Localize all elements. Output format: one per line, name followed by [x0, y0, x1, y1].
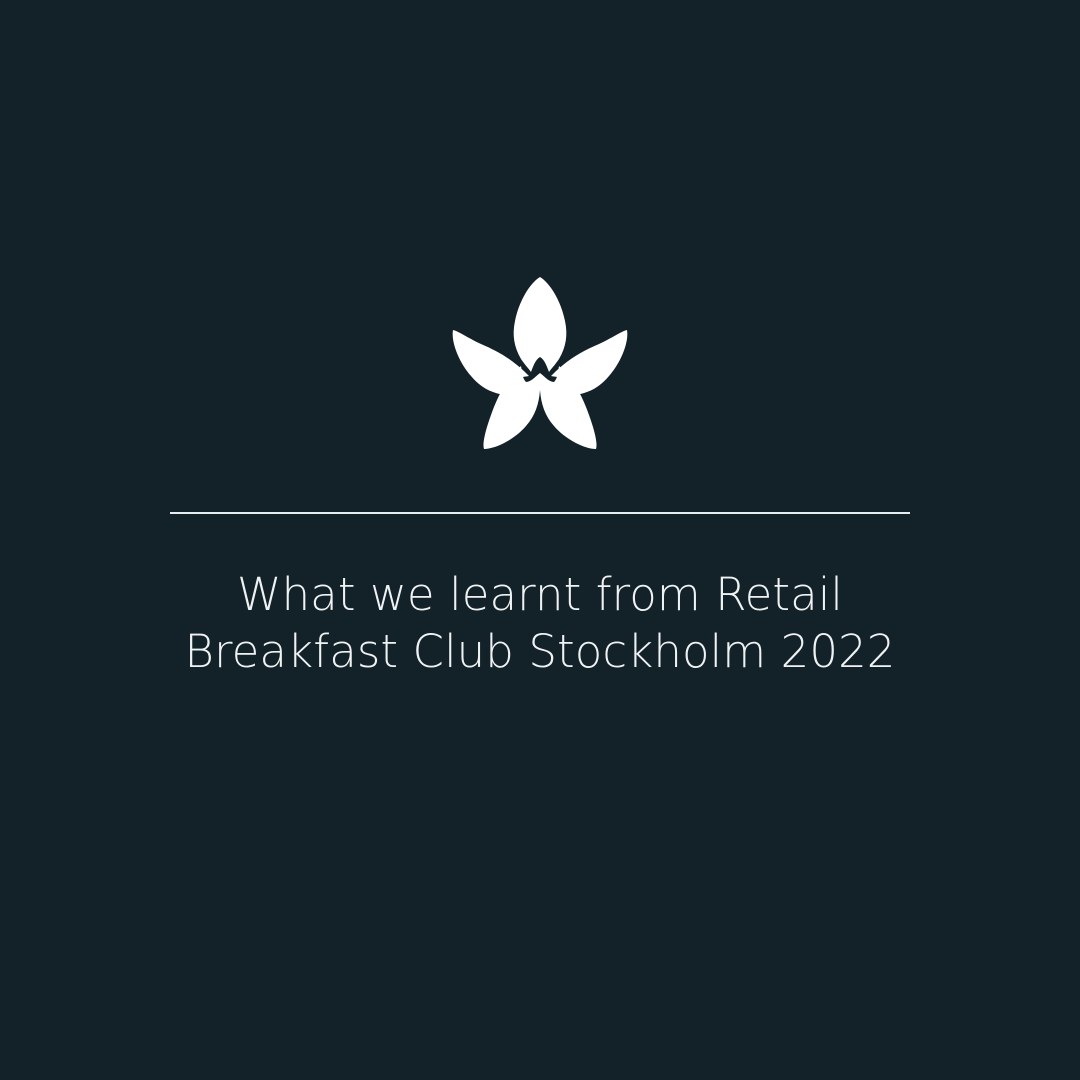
divider-rule — [170, 512, 910, 514]
slide-canvas: What we learnt from Retail Breakfast Clu… — [0, 0, 1080, 1080]
title-line-2: Breakfast Club Stockholm 2022 — [90, 623, 990, 680]
flower-logo-icon — [451, 277, 629, 449]
page-title: What we learnt from Retail Breakfast Clu… — [0, 566, 1080, 680]
logo-container — [0, 277, 1080, 449]
title-line-1: What we learnt from Retail — [90, 566, 990, 623]
